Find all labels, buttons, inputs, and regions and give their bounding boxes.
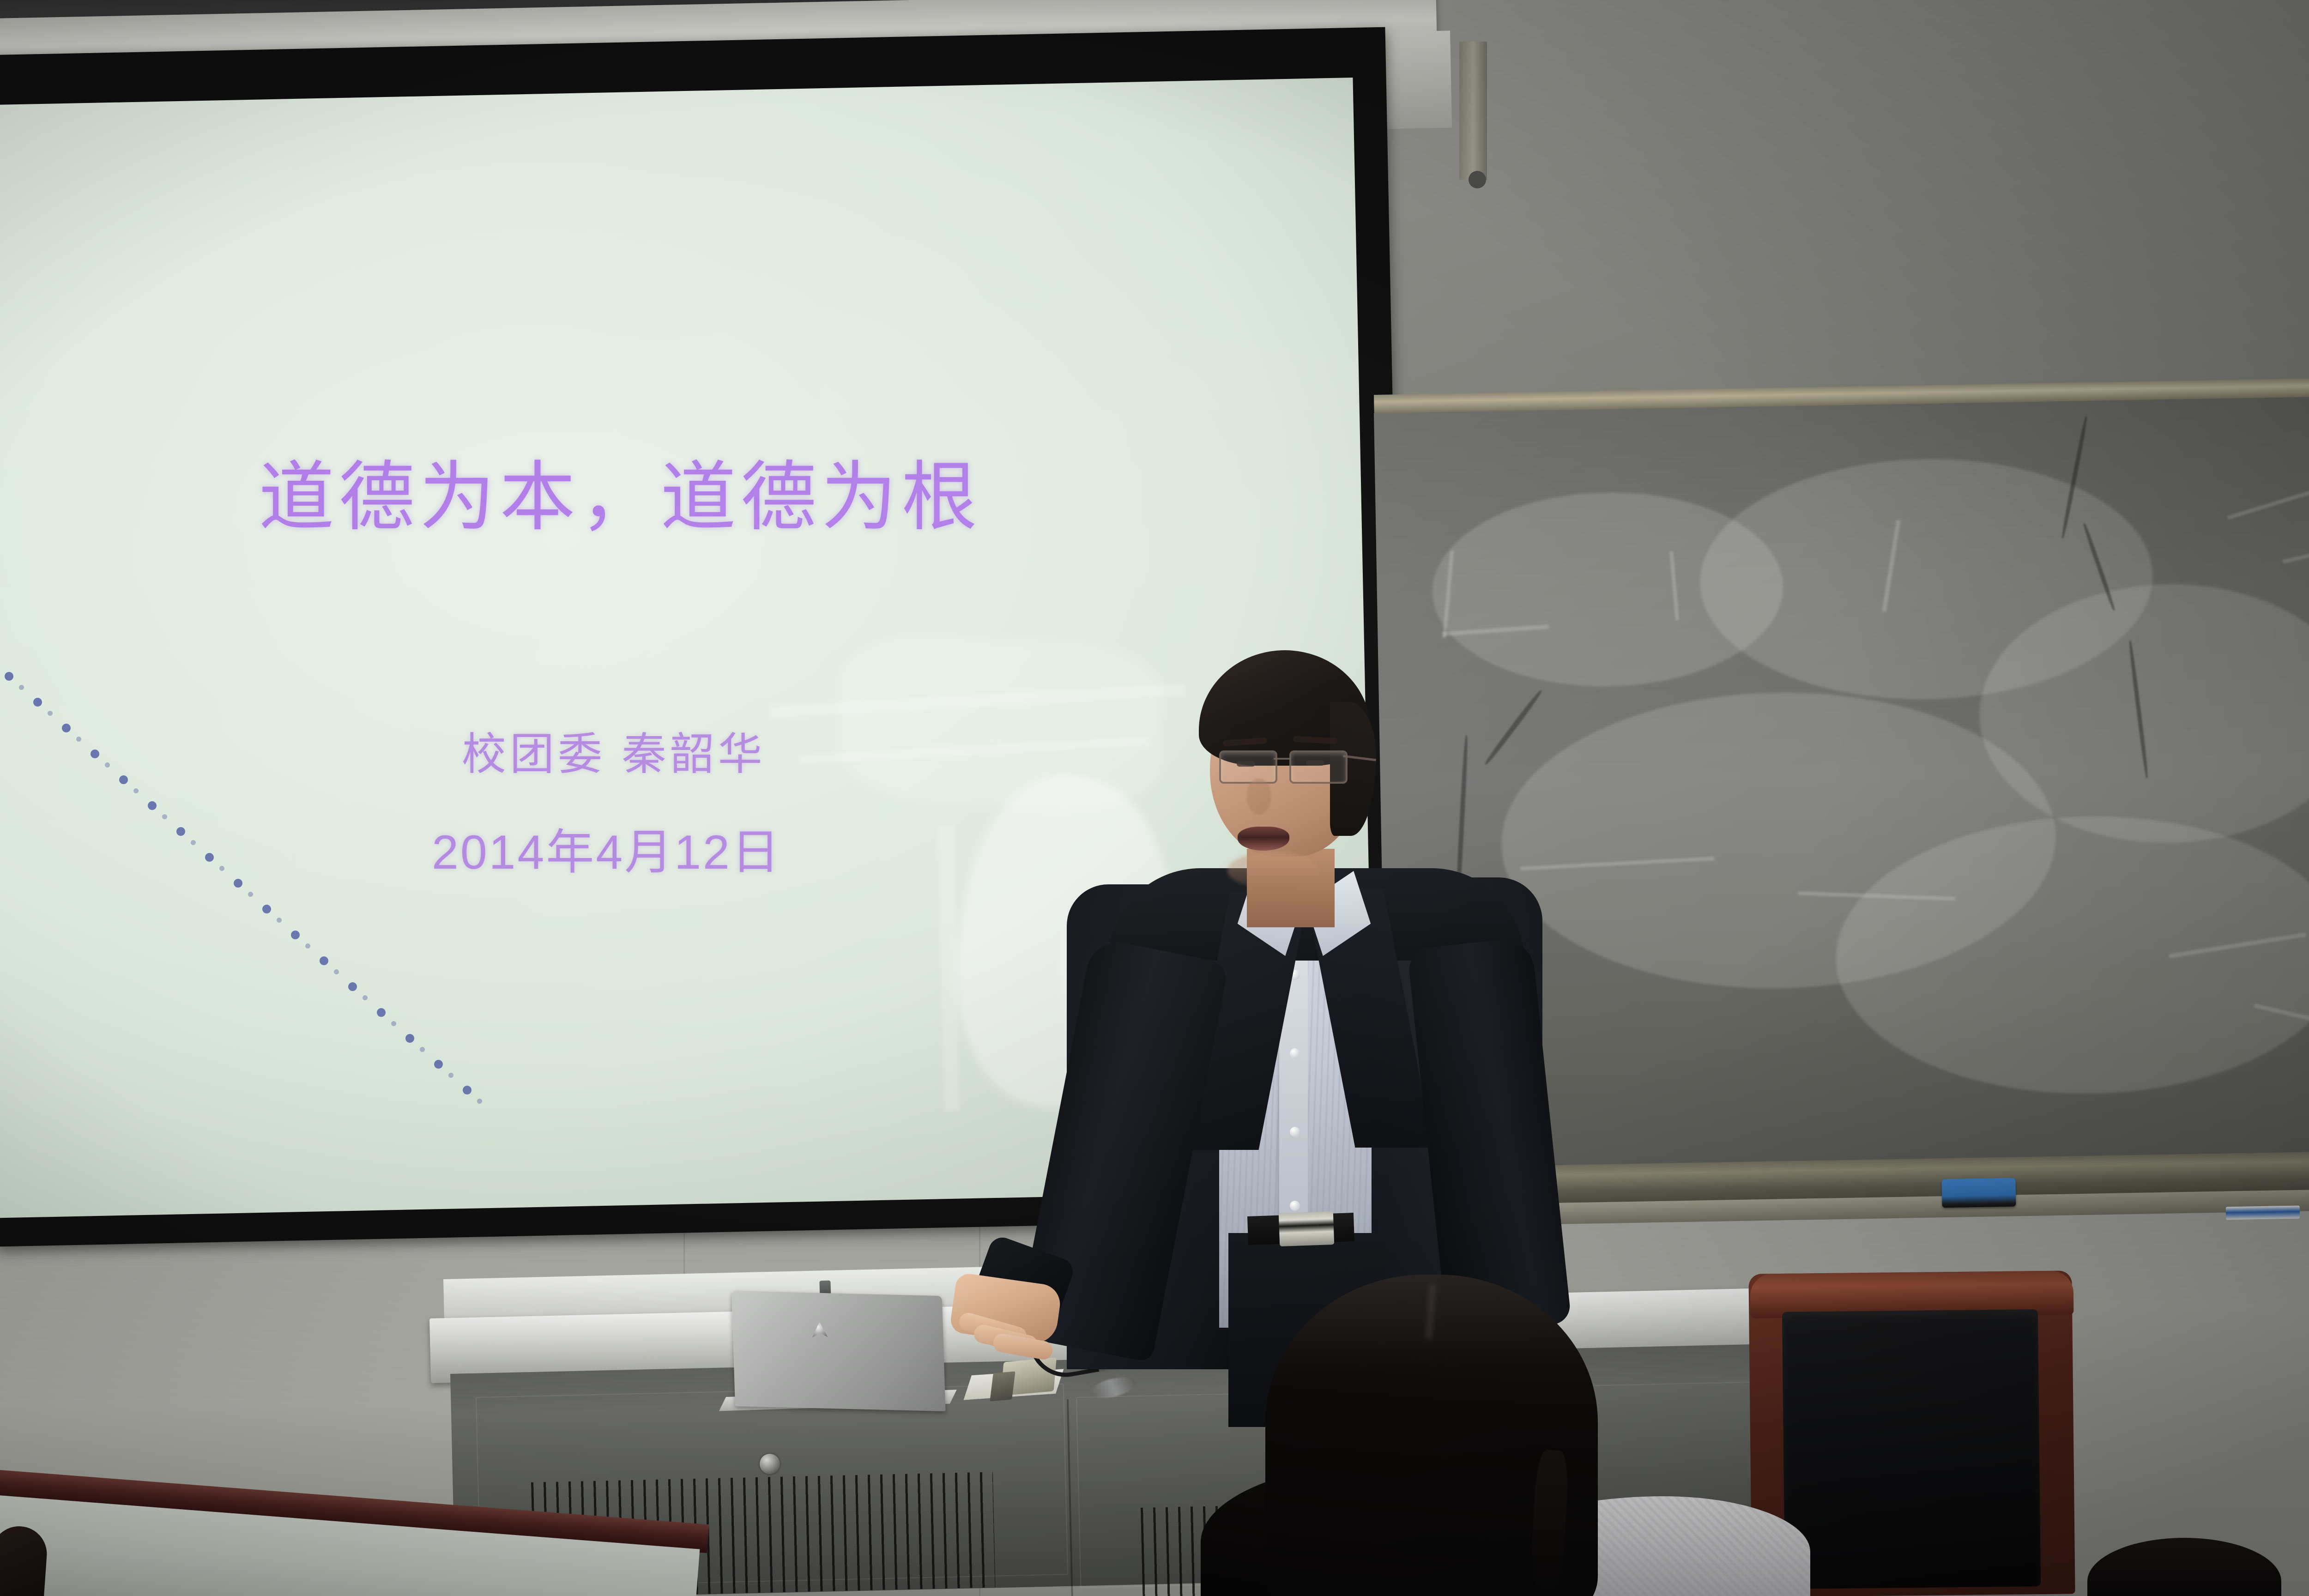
conduit-cap: [1469, 171, 1486, 188]
slide-decoration-dot: [348, 982, 357, 991]
eyeglass-bridge: [1274, 758, 1290, 760]
speaker-belt-buckle: [1279, 1211, 1334, 1246]
slide-watermark-graphic: [835, 631, 1167, 813]
eyeglass-lens-right: [1289, 750, 1348, 784]
slide-decoration-dot: [133, 788, 139, 793]
speaker-chin: [1227, 852, 1320, 889]
slide-decoration-dot: [320, 956, 328, 965]
stapler-base: [990, 1371, 1015, 1401]
slide-decoration-dot: [105, 762, 110, 768]
slide-decoration-dot: [234, 879, 242, 888]
slide-decoration-dot: [291, 931, 300, 939]
slide-decoration-dot: [448, 1073, 453, 1078]
eyeglass-lens-left: [1219, 750, 1277, 784]
slide-decoration-dot: [91, 750, 99, 758]
slide-decoration-dot: [119, 775, 128, 784]
slide-decoration-dot: [363, 995, 368, 1000]
slide-decoration-dot: [5, 672, 13, 681]
shirt-button: [1290, 1201, 1300, 1211]
eyeglasses-icon: [1219, 750, 1358, 783]
slide-decoration-dot: [262, 905, 271, 913]
conduit-junction-box: [1459, 42, 1487, 180]
slide-decoration-dot: [434, 1060, 443, 1069]
slide-title: 道德为本，道德为根: [259, 455, 1136, 540]
slide-decoration-dot: [305, 943, 310, 949]
slide-decoration-dot: [33, 698, 42, 707]
slide-decoration-dot: [162, 814, 167, 819]
blackboard-eraser[interactable]: [1941, 1178, 2016, 1208]
classroom-photo-scene: Redleaf 道德为本，道德为根 校团委 秦韶华 2014年4月12日: [0, 0, 2309, 1596]
slide-watermark-line: [938, 825, 960, 1112]
shirt-button: [1290, 1127, 1300, 1137]
laptop-lid[interactable]: [731, 1291, 945, 1411]
slide-decoration-dot: [219, 866, 224, 871]
slide-decoration-dot: [334, 969, 339, 974]
slide-decoration-dot: [277, 918, 282, 923]
slide-decoration-dot: [391, 1021, 396, 1026]
speaker-nose: [1247, 779, 1271, 815]
slide-decoration-dot: [148, 801, 157, 810]
shirt-button: [1290, 1048, 1300, 1058]
slide-decoration-dot: [48, 711, 53, 716]
slide-decoration-dot: [248, 892, 253, 897]
slide-decoration-dot: [176, 827, 185, 836]
slide-decoration-dot: [463, 1086, 471, 1094]
speaker-mouth: [1238, 827, 1289, 851]
slide-decoration-dot: [420, 1047, 425, 1052]
slide-decoration-dot: [205, 853, 214, 862]
slide-decoration-dot: [19, 685, 24, 690]
slide-decoration-dot: [76, 737, 81, 742]
chair-back-pad: [1782, 1309, 2041, 1589]
slide-decoration-dot: [191, 840, 196, 845]
slide-author-line: 校团委 秦韶华: [462, 718, 766, 782]
slide-decoration-dot: [377, 1008, 386, 1017]
slide-decoration-dot: [62, 724, 71, 732]
slide-date-line: 2014年4月12日: [432, 813, 781, 883]
slide-decoration-dot: [405, 1034, 414, 1043]
chalk-box[interactable]: [2226, 1206, 2300, 1220]
slide-decoration-dot: [477, 1099, 482, 1104]
